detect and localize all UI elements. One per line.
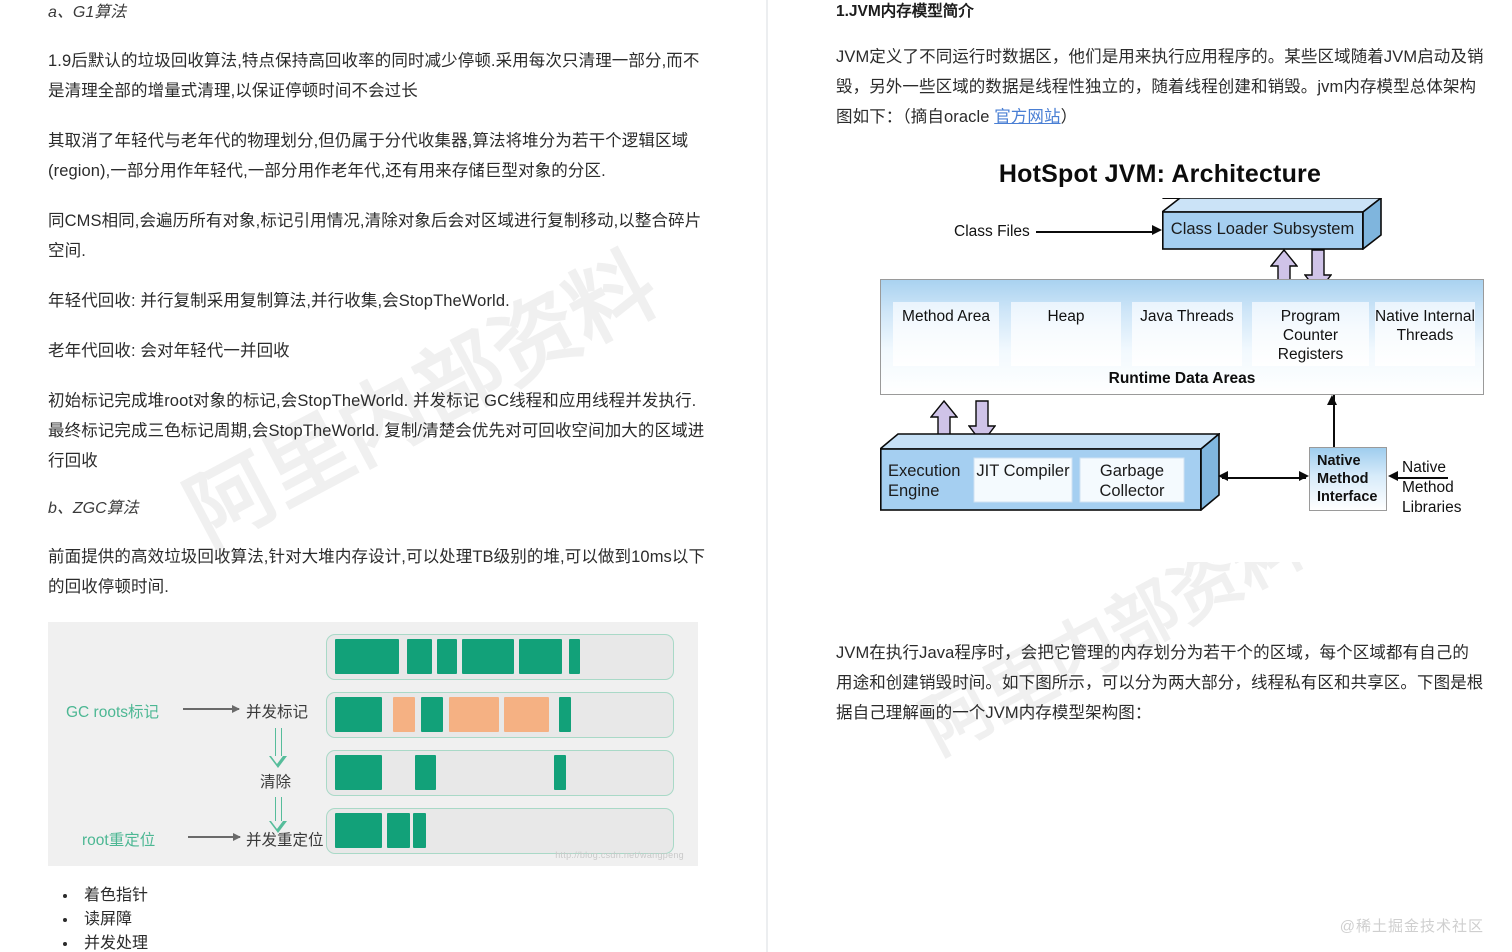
zgc-figure-credit: http://blog.csdn.net/wangpeng xyxy=(555,850,684,860)
brand-watermark: @稀土掘金技术社区 xyxy=(1340,915,1484,936)
box-native-method-interface: Native Method Interface xyxy=(1309,447,1387,511)
cell-native-internal-threads: Native Internal Threads xyxy=(1375,302,1475,366)
label-garbage-collector: Garbage Collector xyxy=(1080,461,1184,501)
label-native-internal-threads: Native Internal Threads xyxy=(1375,307,1475,345)
zgc-row-marked xyxy=(326,692,674,738)
intro-text-part2: ） xyxy=(1061,108,1078,126)
zgc-label-concurrent-relocate: 并发重定位 xyxy=(246,828,324,850)
line-engine-to-nmi xyxy=(1222,477,1306,479)
section-heading-jvm-memory-intro: 1.JVM内存模型简介 xyxy=(836,0,1484,24)
label-class-loader-subsystem: Class Loader Subsystem xyxy=(1162,220,1363,239)
zgc-feature-list: 着色指针 读屏障 并发处理 基于region 内存压缩(整理) xyxy=(48,884,708,952)
cell-method-area: Method Area xyxy=(893,302,999,366)
list-item: 读屏障 xyxy=(78,908,708,932)
cell-java-threads: Java Threads xyxy=(1132,302,1242,366)
zgc-arrow-roots-to-mark xyxy=(183,708,239,710)
arrow-class-files-head xyxy=(1152,225,1162,235)
intro-text-part1: JVM定义了不同运行时数据区，他们是用来执行应用程序的。某些区域随着JVM启动及… xyxy=(836,48,1484,126)
zgc-label-sweep: 清除 xyxy=(260,770,291,792)
zgc-memory-rows xyxy=(326,634,684,866)
paragraph-zgc: 前面提供的高效垃圾回收算法,针对大堆内存设计,可以处理TB级别的堆,可以做到10… xyxy=(48,542,708,602)
left-column: a、G1算法 1.9后默认的垃圾回收算法,特点保持高回收率的同时减少停顿.采用每… xyxy=(48,0,708,952)
zgc-phases-figure: GC roots标记 并发标记 清除 root重定位 并发重定位 xyxy=(48,622,698,866)
zgc-label-root-relocate: root重定位 xyxy=(82,828,155,850)
label-nmi-line1: Native xyxy=(1317,452,1380,470)
label-jit-compiler: JIT Compiler xyxy=(974,461,1072,481)
paragraph-g1-2: 其取消了年轻代与老年代的物理划分,但仍属于分代收集器,算法将堆分为若干个逻辑区域… xyxy=(48,126,708,186)
cell-heap: Heap xyxy=(1011,302,1121,366)
page-root: 阿里内部资料 阿里内部资料 阿里内部资料 a、G1算法 1.9后默认的垃圾回收算… xyxy=(0,0,1512,952)
label-method-area: Method Area xyxy=(902,307,990,326)
label-nmi-line3: Interface xyxy=(1317,488,1380,506)
label-class-files: Class Files xyxy=(954,222,1030,241)
box-runtime-data-areas: Method Area Heap Java Threads Program Co… xyxy=(880,279,1484,395)
oracle-official-site-link[interactable]: 官方网站 xyxy=(994,108,1060,126)
paragraph-jvm-outro: JVM在执行Java程序时，会把它管理的内存划分为若干个的区域，每个区域都有自己… xyxy=(836,638,1484,728)
zgc-label-concurrent-mark: 并发标记 xyxy=(246,700,308,722)
hotspot-jvm-architecture-figure: HotSpot JVM: Architecture Class Files Cl… xyxy=(836,152,1484,562)
list-item: 并发处理 xyxy=(78,932,708,952)
box-execution-engine: Execution Engine JIT Compiler Garbage Co… xyxy=(880,433,1220,511)
label-java-threads: Java Threads xyxy=(1140,307,1234,326)
label-program-counter-registers: Program Counter Registers xyxy=(1252,307,1369,364)
zgc-arrow-mark-to-sweep xyxy=(272,728,285,768)
zgc-label-gc-roots: GC roots标记 xyxy=(66,700,159,722)
label-native-method-libraries: Native Method Libraries xyxy=(1402,458,1461,518)
label-nmi-line2: Method xyxy=(1317,470,1380,488)
arrow-class-files-line xyxy=(1036,231,1154,233)
paragraph-g1-4: 年轻代回收: 并行复制采用复制算法,并行收集,会StopTheWorld. xyxy=(48,286,708,316)
cell-program-counter-registers: Program Counter Registers xyxy=(1252,302,1369,366)
paragraph-g1-1: 1.9后默认的垃圾回收算法,特点保持高回收率的同时减少停顿.采用每次只清理一部分… xyxy=(48,46,708,106)
box-class-loader-subsystem: Class Loader Subsystem xyxy=(1162,198,1382,250)
list-item: 着色指针 xyxy=(78,884,708,908)
arrowhead-libraries xyxy=(1388,471,1398,481)
label-heap: Heap xyxy=(1047,307,1084,326)
hotspot-figure-title: HotSpot JVM: Architecture xyxy=(836,160,1484,189)
paragraph-g1-3: 同CMS相同,会遍历所有对象,标记引用情况,清除对象后会对区域进行复制移动,以整… xyxy=(48,206,708,266)
arrowhead-to-runtime xyxy=(1327,395,1337,405)
label-execution-engine: Execution Engine xyxy=(888,461,972,501)
zgc-row-swept xyxy=(326,750,674,796)
zgc-arrow-rootreloc-to-concreloc xyxy=(188,836,240,838)
paragraph-g1-5: 老年代回收: 会对年轻代一并回收 xyxy=(48,336,708,366)
zgc-row-initial xyxy=(326,634,674,680)
heading-g1-algorithm: a、G1算法 xyxy=(48,0,708,26)
right-column: 1.JVM内存模型简介 JVM定义了不同运行时数据区，他们是用来执行应用程序的。… xyxy=(836,0,1484,748)
column-divider xyxy=(766,0,768,952)
paragraph-jvm-intro: JVM定义了不同运行时数据区，他们是用来执行应用程序的。某些区域随着JVM启动及… xyxy=(836,42,1484,132)
arrowhead-nmi-right xyxy=(1299,471,1309,481)
zgc-figure-labels: GC roots标记 并发标记 清除 root重定位 并发重定位 xyxy=(48,622,326,866)
arrowhead-engine-left xyxy=(1218,471,1228,481)
heading-zgc-algorithm: b、ZGC算法 xyxy=(48,496,708,522)
paragraph-g1-6: 初始标记完成堆root对象的标记,会StopTheWorld. 并发标记 GC线… xyxy=(48,386,708,476)
zgc-row-relocated xyxy=(326,808,674,854)
label-runtime-data-areas: Runtime Data Areas xyxy=(881,370,1483,388)
